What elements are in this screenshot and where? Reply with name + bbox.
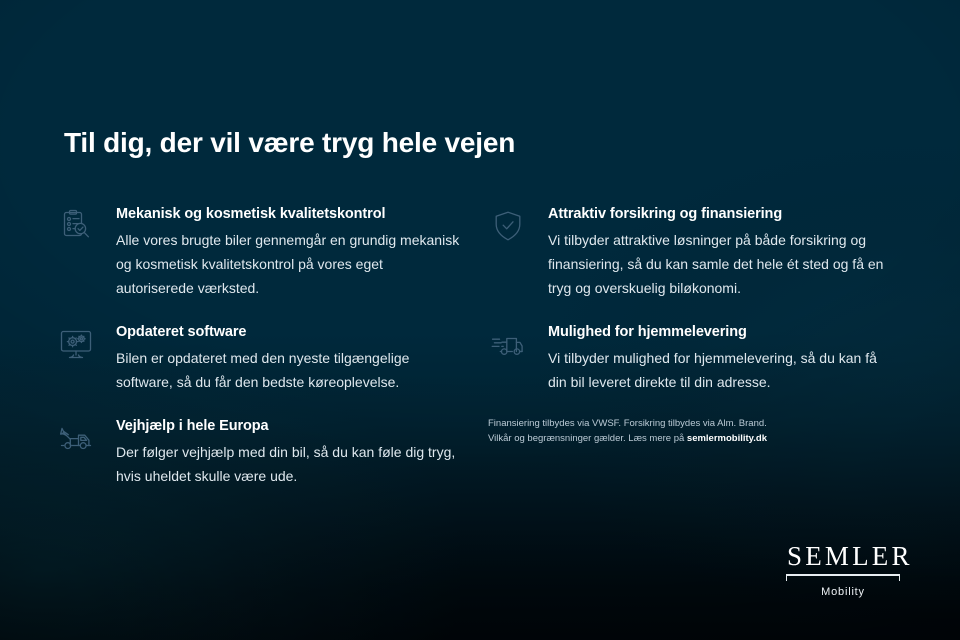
fineprint-line-1: Finansiering tilbydes via VWSF. Forsikri… xyxy=(488,416,798,431)
feature-title: Mekanisk og kosmetisk kvalitetskontrol xyxy=(116,204,460,224)
fineprint-line-2: Vilkår og begrænsninger gælder. Læs mere… xyxy=(488,431,798,446)
page-title: Til dig, der vil være tryg hele vejen xyxy=(64,127,515,159)
monitor-gears-icon xyxy=(58,326,94,362)
feature-body: Vi tilbyder attraktive løsninger på både… xyxy=(548,228,892,300)
feature-body: Der følger vejhjælp med din bil, så du k… xyxy=(116,440,460,488)
feature-column-right: Attraktiv forsikring og finansiering Vi … xyxy=(488,204,892,446)
feature-column-left: Mekanisk og kosmetisk kvalitetskontrol A… xyxy=(56,204,460,510)
feature-item-updated-software: Opdateret software Bilen er opdateret me… xyxy=(56,322,460,394)
feature-title: Vejhjælp i hele Europa xyxy=(116,416,460,436)
feature-item-home-delivery: Mulighed for hjemmelevering Vi tilbyder … xyxy=(488,322,892,394)
semler-mobility-logo: SEMLER Mobility xyxy=(784,541,902,598)
delivery-truck-icon xyxy=(490,326,526,362)
logo-rule xyxy=(784,574,902,581)
feature-body: Bilen er opdateret med den nyeste tilgæn… xyxy=(116,346,460,394)
content-area: Til dig, der vil være tryg hele vejen xyxy=(0,0,960,640)
logo-wordmark: SEMLER xyxy=(784,541,902,571)
fineprint-link[interactable]: semlermobility.dk xyxy=(687,433,767,444)
logo-subtitle: Mobility xyxy=(784,586,902,598)
feature-title: Mulighed for hjemmelevering xyxy=(548,322,892,342)
clipboard-magnifier-icon xyxy=(58,208,94,244)
tow-truck-icon xyxy=(58,420,94,456)
feature-title: Attraktiv forsikring og finansiering xyxy=(548,204,892,224)
feature-body: Vi tilbyder mulighed for hjemmelevering,… xyxy=(548,346,892,394)
feature-item-insurance-financing: Attraktiv forsikring og finansiering Vi … xyxy=(488,204,892,300)
feature-item-quality-control: Mekanisk og kosmetisk kvalitetskontrol A… xyxy=(56,204,460,300)
feature-title: Opdateret software xyxy=(116,322,460,342)
fineprint-disclaimer: Finansiering tilbydes via VWSF. Forsikri… xyxy=(488,416,798,446)
promo-page: Til dig, der vil være tryg hele vejen xyxy=(0,0,960,640)
feature-item-roadside-assistance: Vejhjælp i hele Europa Der følger vejhjæ… xyxy=(56,416,460,488)
feature-body: Alle vores brugte biler gennemgår en gru… xyxy=(116,228,460,300)
shield-check-icon xyxy=(490,208,526,244)
fineprint-line-2-text: Vilkår og begrænsninger gælder. Læs mere… xyxy=(488,433,687,444)
